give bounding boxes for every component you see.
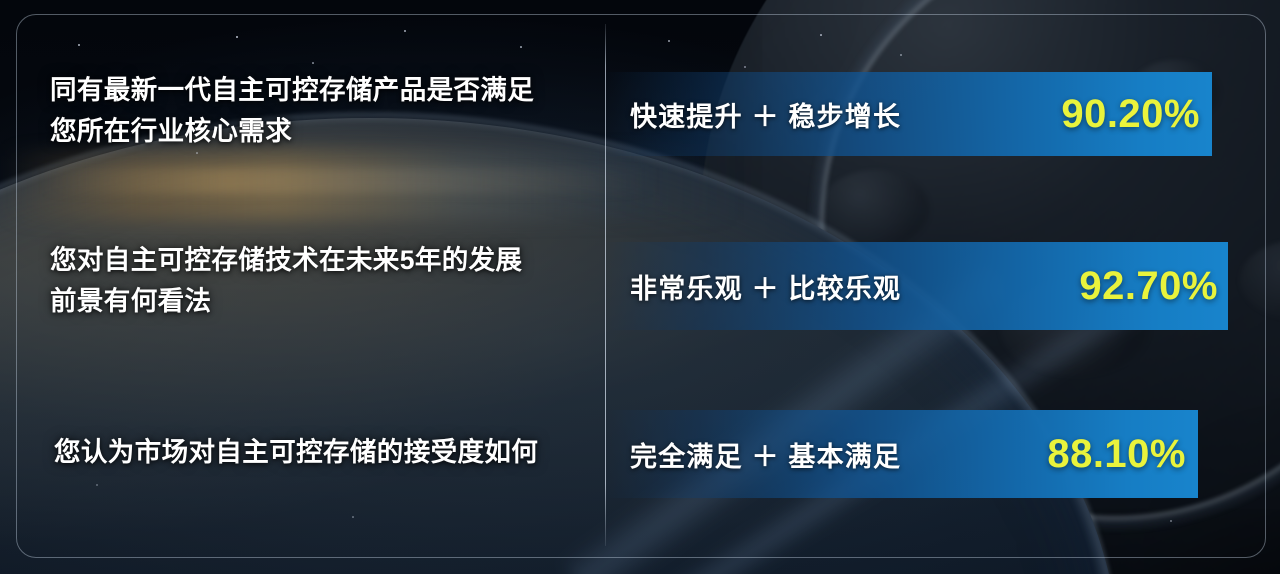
answer-label-1: 快速提升 ＋ 稳步增长 (630, 95, 901, 134)
answer-label-3: 完全满足 ＋ 基本满足 (630, 435, 901, 474)
percent-value-2: 92.70% (1079, 264, 1218, 309)
answer-bar-2: 非常乐观 ＋ 比较乐观 92.70% (606, 242, 1228, 330)
answer-bar-1: 快速提升 ＋ 稳步增长 90.20% (606, 72, 1212, 156)
slide-content: 同有最新一代自主可控存储产品是否满足 您所在行业核心需求 您对自主可控存储技术在… (0, 0, 1280, 574)
question-line: 您认为市场对自主可控存储的接受度如何 (54, 432, 538, 473)
question-text-3: 您认为市场对自主可控存储的接受度如何 (54, 432, 538, 473)
question-text-2: 您对自主可控存储技术在未来5年的发展 前景有何看法 (50, 240, 522, 322)
slide-root: 同有最新一代自主可控存储产品是否满足 您所在行业核心需求 您对自主可控存储技术在… (0, 0, 1280, 574)
question-line: 您对自主可控存储技术在未来5年的发展 (50, 240, 522, 281)
answer-bar-3: 完全满足 ＋ 基本满足 88.10% (606, 410, 1198, 498)
answer-label-2: 非常乐观 ＋ 比较乐观 (630, 267, 901, 306)
question-text-1: 同有最新一代自主可控存储产品是否满足 您所在行业核心需求 (50, 70, 534, 152)
percent-value-1: 90.20% (1061, 92, 1200, 137)
question-line: 前景有何看法 (50, 281, 522, 322)
question-line: 同有最新一代自主可控存储产品是否满足 (50, 70, 534, 111)
percent-value-3: 88.10% (1047, 432, 1186, 477)
question-line: 您所在行业核心需求 (50, 111, 534, 152)
